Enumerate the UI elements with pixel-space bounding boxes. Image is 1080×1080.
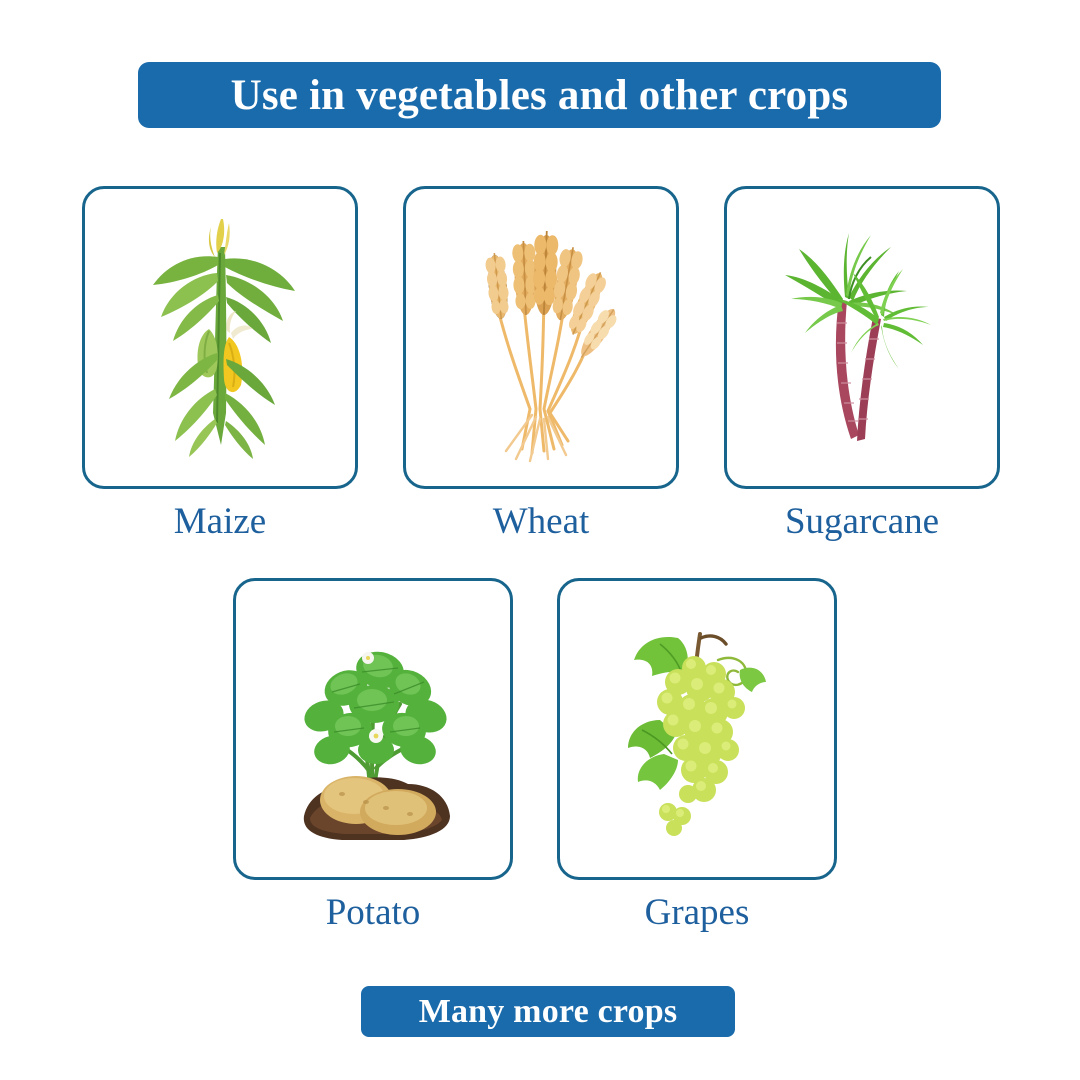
crop-label-sugarcane: Sugarcane xyxy=(785,501,939,544)
crop-item-wheat[interactable]: Wheat xyxy=(403,186,679,544)
crop-card-grapes[interactable] xyxy=(557,578,837,880)
crop-label-grapes: Grapes xyxy=(645,892,750,935)
crop-card-potato[interactable] xyxy=(233,578,513,880)
header-banner: Use in vegetables and other crops xyxy=(138,62,941,128)
footer-banner: Many more crops xyxy=(361,986,735,1037)
crop-label-maize: Maize xyxy=(174,501,266,544)
header-title: Use in vegetables and other crops xyxy=(231,71,849,120)
grape-bunch-illustration xyxy=(582,604,812,854)
crop-row-1: Maize xyxy=(82,186,998,544)
crop-item-potato[interactable]: Potato xyxy=(233,578,513,935)
sugarcane-stalk-illustration xyxy=(747,213,977,463)
maize-plant-illustration xyxy=(105,213,335,463)
potato-plant-illustration xyxy=(258,604,488,854)
crop-item-grapes[interactable]: Grapes xyxy=(557,578,837,935)
crop-card-wheat[interactable] xyxy=(403,186,679,489)
crop-label-wheat: Wheat xyxy=(493,501,590,544)
crop-usage-infographic: Use in vegetables and other crops xyxy=(0,0,1080,1080)
crop-row-2: Potato xyxy=(233,578,835,935)
crop-item-sugarcane[interactable]: Sugarcane xyxy=(724,186,1000,544)
crop-card-sugarcane[interactable] xyxy=(724,186,1000,489)
crop-label-potato: Potato xyxy=(326,892,421,935)
wheat-sheaf-illustration xyxy=(426,213,656,463)
crop-card-maize[interactable] xyxy=(82,186,358,489)
footer-title: Many more crops xyxy=(419,993,678,1031)
crop-item-maize[interactable]: Maize xyxy=(82,186,358,544)
